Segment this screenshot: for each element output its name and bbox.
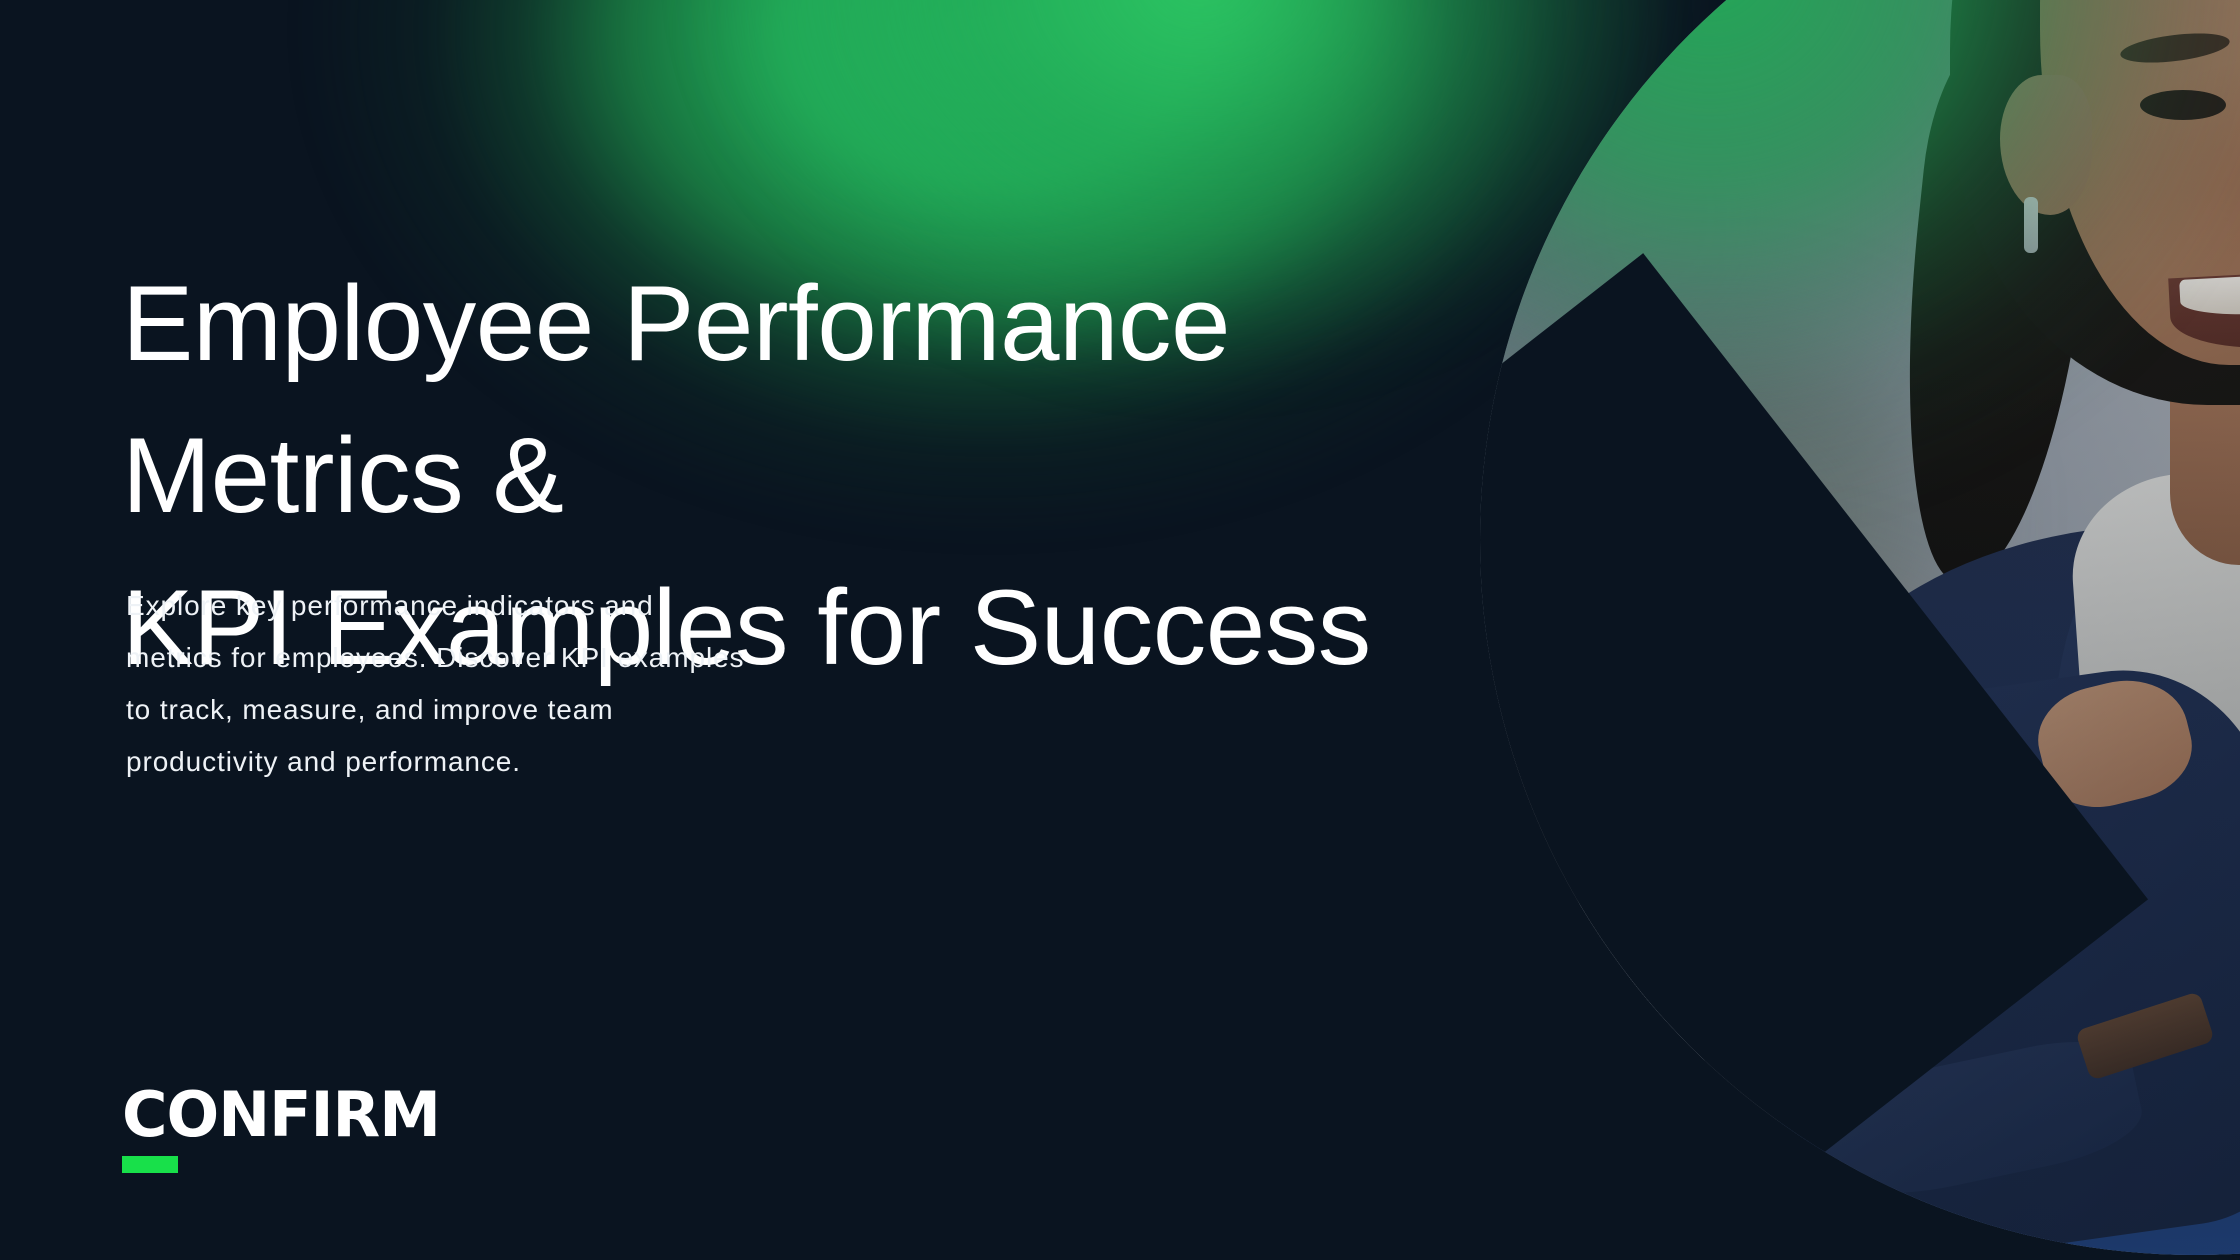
- hero-banner: Employee Performance Metrics & KPI Examp…: [0, 0, 2240, 1260]
- hero-content: Employee Performance Metrics & KPI Examp…: [0, 0, 1560, 1260]
- confirm-logo[interactable]: CONFIRM: [122, 1084, 440, 1173]
- hero-photo-circle: [1480, 0, 2240, 1255]
- logo-wordmark: CONFIRM: [122, 1084, 440, 1146]
- photo-backdrop: [1480, 0, 2240, 1255]
- page-subtitle: Explore key performance indicators and m…: [126, 580, 1046, 788]
- logo-accent-bar: [122, 1156, 178, 1173]
